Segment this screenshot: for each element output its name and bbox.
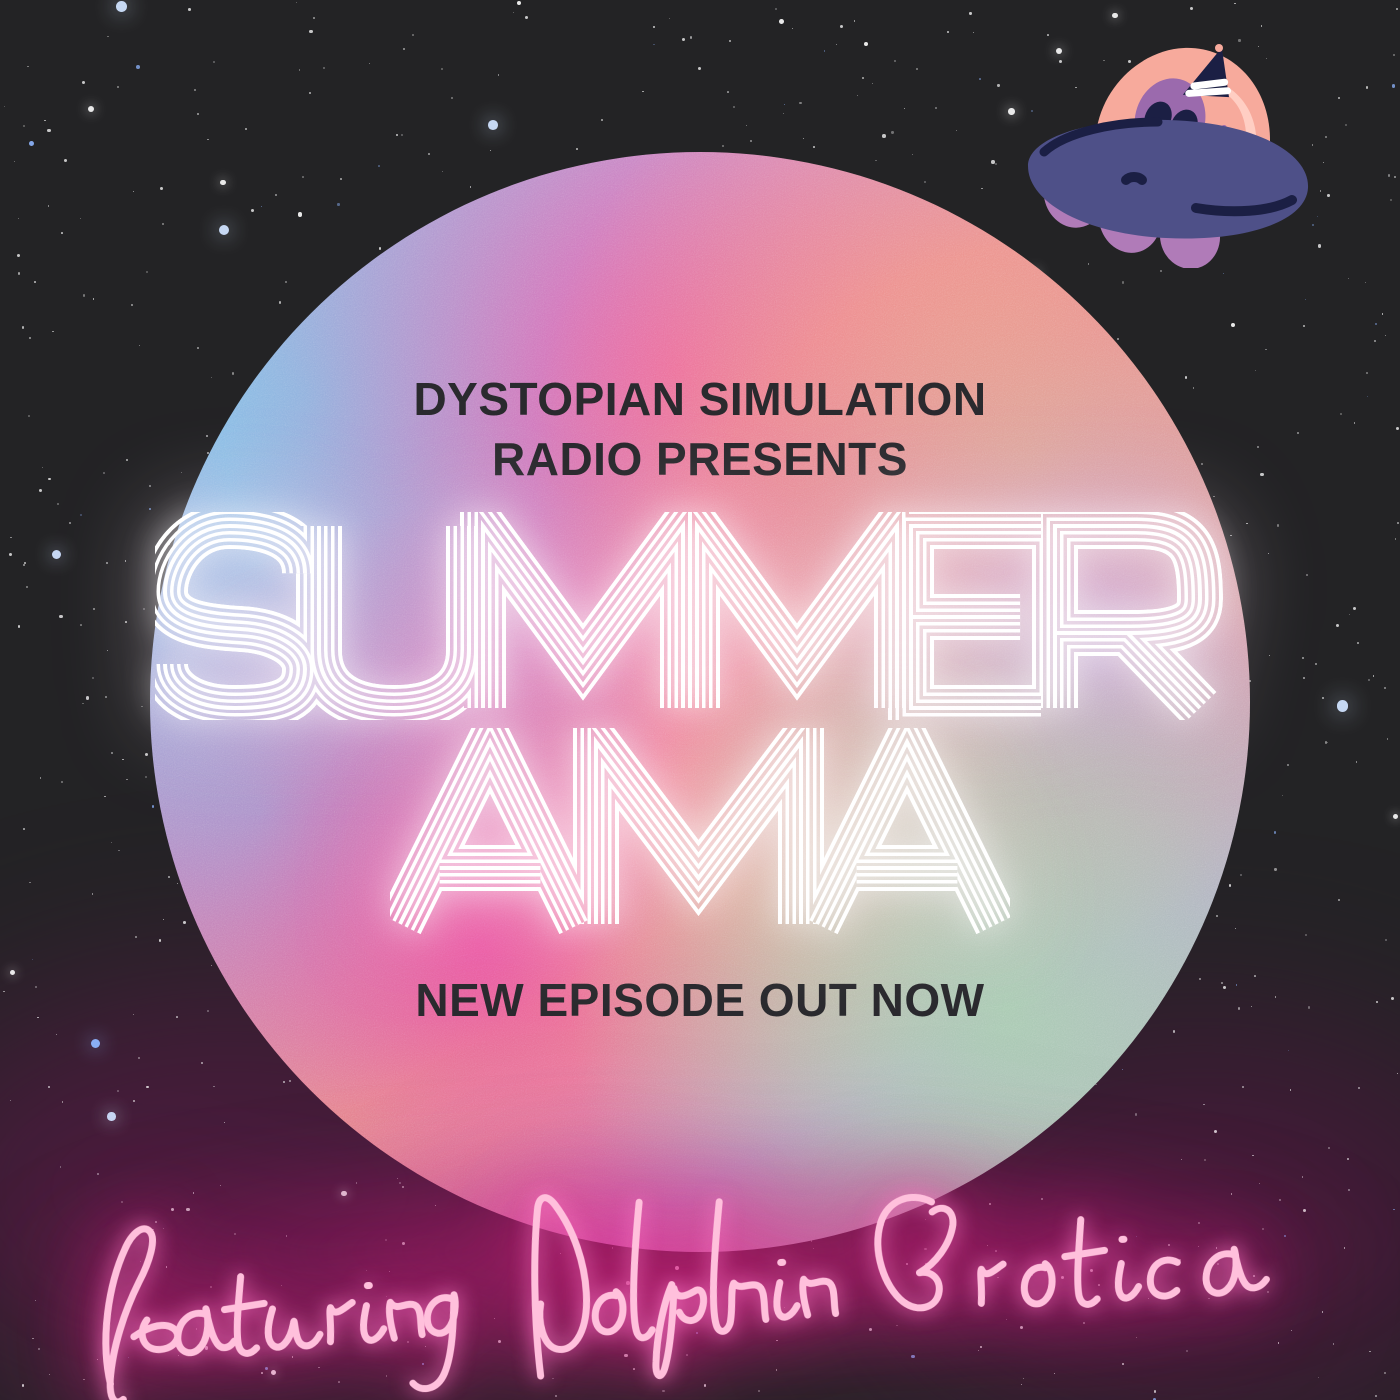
star: [1390, 199, 1392, 201]
star: [18, 272, 20, 274]
star: [882, 134, 886, 138]
star: [1047, 34, 1049, 36]
title-ama-glyphs: [390, 728, 1010, 936]
star: [1394, 176, 1396, 178]
star: [997, 84, 999, 86]
star: [872, 83, 873, 84]
star: [136, 65, 140, 69]
star: [80, 218, 81, 219]
star: [1288, 1050, 1289, 1051]
star: [107, 1112, 116, 1121]
star: [1234, 3, 1236, 5]
star: [733, 106, 735, 108]
star: [803, 138, 804, 139]
star: [14, 161, 15, 162]
star: [727, 91, 729, 93]
star: [27, 66, 29, 68]
star: [1358, 1087, 1360, 1089]
star: [947, 31, 950, 34]
star: [662, 1390, 664, 1392]
star: [1382, 313, 1384, 315]
star: [93, 298, 95, 300]
star: [369, 63, 370, 64]
star: [979, 78, 981, 80]
star: [309, 92, 311, 94]
star: [48, 205, 49, 206]
star: [824, 50, 826, 52]
star: [862, 77, 864, 79]
star: [401, 134, 403, 136]
star: [1388, 174, 1390, 176]
star: [441, 68, 443, 70]
star: [1375, 1395, 1377, 1397]
star: [1323, 162, 1324, 163]
star: [1375, 323, 1377, 325]
star: [1366, 86, 1368, 88]
star: [1345, 124, 1347, 126]
star: [488, 120, 498, 130]
star: [864, 42, 868, 46]
star: [313, 17, 315, 19]
poster-canvas: DYSTOPIAN SIMULATION RADIO PRESENTS NEW …: [0, 0, 1400, 1400]
star: [1338, 97, 1340, 99]
star: [1190, 7, 1193, 10]
star: [836, 44, 837, 45]
star: [4, 106, 6, 108]
star: [792, 28, 793, 29]
star: [857, 95, 858, 96]
star: [309, 30, 313, 34]
star: [245, 128, 247, 130]
star: [698, 67, 701, 70]
star: [82, 81, 85, 84]
star: [894, 60, 896, 62]
star: [64, 159, 67, 162]
star: [146, 271, 148, 273]
star: [904, 108, 905, 109]
star: [935, 107, 937, 109]
star: [47, 129, 51, 133]
star: [1320, 190, 1322, 192]
star: [669, 18, 670, 19]
star: [969, 12, 971, 14]
star: [207, 139, 208, 140]
star: [576, 148, 578, 150]
star: [1327, 194, 1330, 197]
star: [642, 91, 644, 93]
star: [750, 140, 752, 142]
star: [61, 232, 63, 234]
star: [56, 1034, 57, 1035]
star: [498, 74, 499, 75]
star: [44, 120, 45, 121]
star: [1317, 216, 1318, 217]
star: [17, 254, 20, 257]
star: [1348, 278, 1349, 279]
star: [194, 89, 196, 91]
star: [1385, 335, 1386, 336]
star: [22, 326, 24, 328]
star: [412, 34, 414, 36]
star: [52, 331, 53, 332]
star: [197, 113, 199, 115]
star: [784, 104, 785, 105]
presents-line-2: RADIO PRESENTS: [0, 430, 1400, 490]
star: [783, 113, 784, 114]
star: [682, 38, 685, 41]
star: [1305, 299, 1307, 301]
star: [1318, 244, 1322, 248]
star: [323, 67, 325, 69]
star: [1054, 1373, 1055, 1374]
title-line-summer: [0, 512, 1400, 720]
star: [57, 503, 59, 505]
star: [117, 1090, 119, 1092]
star: [854, 20, 856, 22]
star: [29, 337, 31, 339]
star: [653, 26, 654, 27]
star: [117, 86, 119, 88]
star: [1021, 1384, 1022, 1385]
star: [555, 1395, 557, 1397]
star: [34, 281, 36, 283]
star: [296, 2, 297, 3]
star: [83, 294, 85, 296]
star: [517, 1, 522, 6]
star: [956, 130, 958, 132]
star: [775, 8, 777, 10]
star: [746, 125, 747, 126]
star: [840, 25, 843, 28]
star: [891, 131, 893, 133]
star: [396, 134, 399, 137]
star: [525, 16, 528, 19]
star: [690, 36, 692, 38]
star: [188, 8, 191, 11]
star: [973, 32, 975, 34]
star: [513, 12, 515, 14]
star: [18, 218, 19, 219]
star: [1385, 939, 1387, 941]
new-episode-callout: NEW EPISODE OUT NOW: [0, 973, 1400, 1027]
star: [10, 1100, 11, 1101]
star: [139, 345, 140, 346]
star: [107, 36, 109, 38]
star: [758, 1390, 760, 1392]
star: [1261, 25, 1262, 26]
star: [403, 48, 405, 50]
star: [299, 69, 301, 71]
star: [1392, 84, 1396, 88]
title-summer-glyphs: [155, 512, 1245, 720]
star: [799, 102, 801, 104]
star: [1374, 340, 1376, 342]
star: [32, 959, 33, 960]
star: [135, 936, 137, 938]
ufo-illustration: [1018, 42, 1314, 268]
star: [813, 146, 815, 148]
star: [1393, 54, 1395, 56]
star: [131, 304, 133, 306]
presents-line-1: DYSTOPIAN SIMULATION: [0, 370, 1400, 430]
star: [1325, 136, 1327, 138]
star: [916, 68, 918, 70]
star: [729, 40, 731, 42]
star: [1112, 13, 1118, 19]
star: [601, 119, 603, 121]
star: [779, 19, 784, 24]
title-line-ama: [0, 728, 1400, 936]
star: [29, 141, 34, 146]
star: [1396, 8, 1398, 10]
presents-heading: DYSTOPIAN SIMULATION RADIO PRESENTS: [0, 370, 1400, 490]
star: [23, 125, 25, 127]
star: [1303, 325, 1305, 327]
star: [1008, 108, 1015, 115]
star: [133, 191, 134, 192]
star: [1397, 1073, 1398, 1074]
star: [653, 44, 655, 46]
star: [722, 145, 724, 147]
star: [213, 61, 215, 63]
star: [1265, 349, 1266, 350]
star: [116, 1, 127, 12]
star: [1365, 282, 1366, 283]
star: [88, 106, 94, 112]
star: [451, 97, 453, 99]
